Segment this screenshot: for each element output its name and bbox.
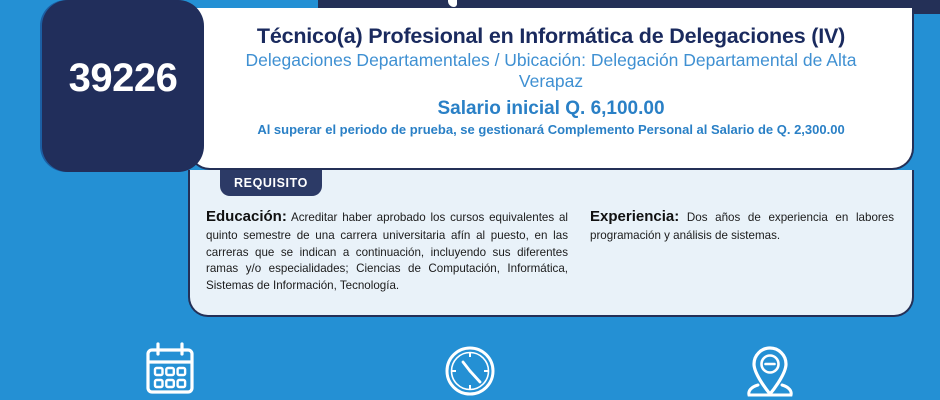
salary-note: Al superar el periodo de prueba, se gest… — [212, 122, 890, 137]
clock-icon — [435, 340, 505, 400]
job-id-number: 39226 — [42, 56, 204, 101]
job-posting-card: Técnico(a) Profesional en Informática de… — [0, 0, 940, 400]
requisito-experiencia: Experiencia: Dos años de experiencia en … — [590, 206, 894, 295]
requisitos-columns: Educación: Acreditar haber aprobado los … — [190, 206, 912, 295]
job-id-block: 39226 — [42, 0, 204, 172]
calendar-icon — [135, 340, 205, 400]
requisitos-panel: REQUISITO Educación: Acreditar haber apr… — [188, 170, 914, 317]
footer-icon-row — [0, 340, 940, 400]
requisito-educacion-label: Educación: — [206, 208, 287, 225]
job-details-card: Técnico(a) Profesional en Informática de… — [188, 8, 914, 170]
salary-line: Salario inicial Q. 6,100.00 — [212, 98, 890, 120]
requisito-educacion: Educación: Acreditar haber aprobado los … — [206, 206, 568, 295]
job-location-subtitle: Delegaciones Departamentales / Ubicación… — [212, 50, 890, 91]
job-title: Técnico(a) Profesional en Informática de… — [212, 24, 890, 48]
requisito-experiencia-label: Experiencia: — [590, 208, 679, 225]
requisito-badge: REQUISITO — [220, 170, 322, 196]
location-pin-icon — [735, 340, 805, 400]
